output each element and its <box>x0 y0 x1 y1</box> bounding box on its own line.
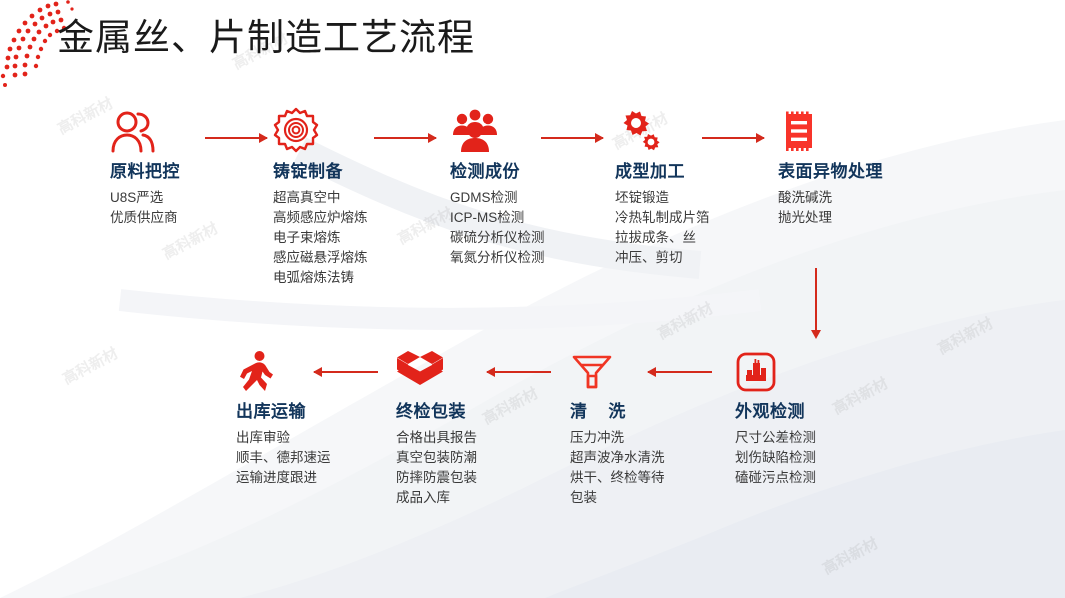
flow-arrow-left <box>487 371 551 373</box>
step-lines: U8S严选 优质供应商 <box>110 188 180 228</box>
step-title: 原料把控 <box>110 157 180 182</box>
step-line: ICP-MS检测 <box>450 208 545 228</box>
flow-arrow-right <box>541 137 603 139</box>
step-title: 表面异物处理 <box>778 157 883 182</box>
page-title: 金属丝、片制造工艺流程 <box>57 7 475 61</box>
factory-framed-icon <box>735 345 816 393</box>
flow-arrow-right <box>205 137 267 139</box>
flow-step-final-inspection-packaging[interactable]: 终检包装 合格出具报告 真空包装防潮 防摔防震包装 成品入库 <box>396 345 477 508</box>
watermark: 高科新材 <box>479 382 542 429</box>
watermark: 高科新材 <box>934 312 997 359</box>
flow-step-cleaning[interactable]: 清 洗 压力冲洗 超声波净水清洗 烘干、终检等待包装 <box>570 345 686 508</box>
step-title: 检测成份 <box>450 157 545 182</box>
watermark: 高科新材 <box>59 342 122 389</box>
flow-step-composition-test[interactable]: 检测成份 GDMS检测 ICP-MS检测 碳硫分析仪检测 氧氮分析仪检测 <box>450 105 545 268</box>
step-lines: 坯锭锻造 冷热轧制成片箔 拉拔成条、丝 冲压、剪切 <box>615 188 710 268</box>
open-box-icon <box>396 345 477 393</box>
watermark: 高科新材 <box>394 202 457 249</box>
step-line: 超高真空中 <box>273 188 368 208</box>
flow-step-surface-treatment[interactable]: 表面异物处理 酸洗碱洗 抛光处理 <box>778 105 883 228</box>
step-line: 高频感应炉熔炼 <box>273 208 368 228</box>
step-line: 冲压、剪切 <box>615 248 710 268</box>
step-line: 感应磁悬浮熔炼 <box>273 248 368 268</box>
step-line: 成品入库 <box>396 488 477 508</box>
step-lines: GDMS检测 ICP-MS检测 碳硫分析仪检测 氧氮分析仪检测 <box>450 188 545 268</box>
step-lines: 压力冲洗 超声波净水清洗 烘干、终检等待包装 <box>570 428 674 508</box>
flow-step-appearance-inspection[interactable]: 外观检测 尺寸公差检测 划伤缺陷检测 磕碰污点检测 <box>735 345 816 488</box>
step-title: 出库运输 <box>236 397 331 422</box>
flow-arrow-right <box>702 137 764 139</box>
flow-step-forming-processing[interactable]: 成型加工 坯锭锻造 冷热轧制成片箔 拉拔成条、丝 冲压、剪切 <box>615 105 710 268</box>
step-lines: 出库审验 顺丰、德邦速运 运输进度跟进 <box>236 428 331 488</box>
gears-icon <box>615 105 710 153</box>
flow-step-raw-material[interactable]: 原料把控 U8S严选 优质供应商 <box>110 105 180 228</box>
watermark: 高科新材 <box>654 297 717 344</box>
step-lines: 超高真空中 高频感应炉熔炼 电子束熔炼 感应磁悬浮熔炼 电弧熔炼法铸 <box>273 188 368 288</box>
step-line: 合格出具报告 <box>396 428 477 448</box>
flow-arrow-left <box>648 371 712 373</box>
step-line: 优质供应商 <box>110 208 180 228</box>
step-line: 电弧熔炼法铸 <box>273 268 368 288</box>
document-lines-icon <box>778 105 883 153</box>
step-title: 铸锭制备 <box>273 157 368 182</box>
step-line: 超声波净水清洗 <box>570 448 674 468</box>
step-line: 压力冲洗 <box>570 428 674 448</box>
step-line: 冷热轧制成片箔 <box>615 208 710 228</box>
step-title: 成型加工 <box>615 157 710 182</box>
step-line: 酸洗碱洗 <box>778 188 883 208</box>
step-line: 磕碰污点检测 <box>735 468 816 488</box>
step-title: 清 洗 <box>570 397 686 422</box>
flow-arrow-left <box>314 371 378 373</box>
flow-arrow-right <box>374 137 436 139</box>
step-line: 坯锭锻造 <box>615 188 710 208</box>
watermark: 高科新材 <box>819 532 882 579</box>
step-title: 终检包装 <box>396 397 477 422</box>
step-title: 外观检测 <box>735 397 816 422</box>
step-line: U8S严选 <box>110 188 180 208</box>
step-line: 出库审验 <box>236 428 331 448</box>
step-lines: 合格出具报告 真空包装防潮 防摔防震包装 成品入库 <box>396 428 477 508</box>
watermark: 高科新材 <box>54 92 117 139</box>
step-line: 尺寸公差检测 <box>735 428 816 448</box>
funnel-icon <box>570 345 686 393</box>
step-line: 顺丰、德邦速运 <box>236 448 331 468</box>
step-line: 运输进度跟进 <box>236 468 331 488</box>
background-decoration <box>0 0 1065 598</box>
step-line: 氧氮分析仪检测 <box>450 248 545 268</box>
step-lines: 酸洗碱洗 抛光处理 <box>778 188 883 228</box>
step-line: 烘干、终检等待包装 <box>570 468 674 508</box>
step-line: 划伤缺陷检测 <box>735 448 816 468</box>
flow-arrow-down <box>815 268 817 330</box>
step-line: 真空包装防潮 <box>396 448 477 468</box>
flow-step-ingot-preparation[interactable]: 铸锭制备 超高真空中 高频感应炉熔炼 电子束熔炼 感应磁悬浮熔炼 电弧熔炼法铸 <box>273 105 368 288</box>
step-line: 抛光处理 <box>778 208 883 228</box>
people-group-icon <box>450 105 545 153</box>
step-line: 碳硫分析仪检测 <box>450 228 545 248</box>
watermark: 高科新材 <box>829 372 892 419</box>
step-line: 电子束熔炼 <box>273 228 368 248</box>
step-lines: 尺寸公差检测 划伤缺陷检测 磕碰污点检测 <box>735 428 816 488</box>
step-line: 防摔防震包装 <box>396 468 477 488</box>
step-line: 拉拔成条、丝 <box>615 228 710 248</box>
gear-target-icon <box>273 105 368 153</box>
step-line: GDMS检测 <box>450 188 545 208</box>
users-outline-icon <box>110 105 180 153</box>
